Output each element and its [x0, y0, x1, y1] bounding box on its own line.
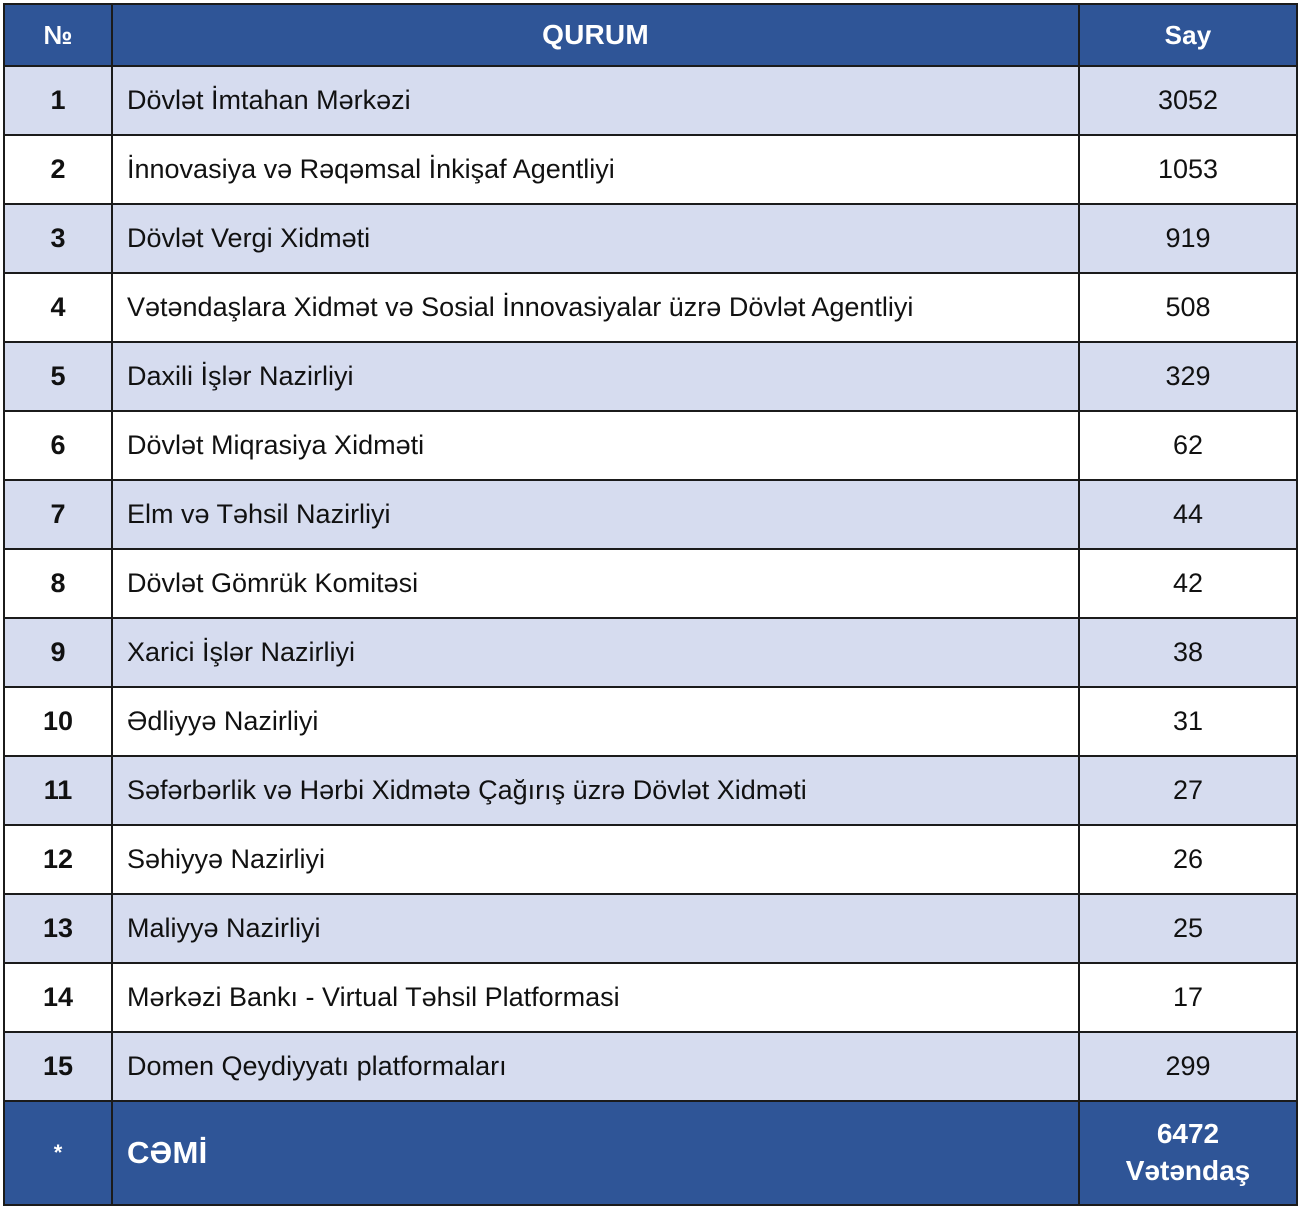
- total-row: * CƏMİ 6472 Vətəndaş: [4, 1101, 1297, 1205]
- row-number-cell: 14: [4, 963, 112, 1032]
- row-number-cell: 10: [4, 687, 112, 756]
- count-cell: 31: [1079, 687, 1297, 756]
- row-number-cell: 9: [4, 618, 112, 687]
- table-row: 9Xarici İşlər Nazirliyi38: [4, 618, 1297, 687]
- count-cell: 26: [1079, 825, 1297, 894]
- count-cell: 38: [1079, 618, 1297, 687]
- total-count-number: 6472: [1081, 1116, 1295, 1153]
- count-cell: 42: [1079, 549, 1297, 618]
- organization-name-cell: Səfərbərlik və Hərbi Xidmətə Çağırış üzr…: [112, 756, 1079, 825]
- row-number-cell: 7: [4, 480, 112, 549]
- organization-name-cell: Vətəndaşlara Xidmət və Sosial İnnovasiya…: [112, 273, 1079, 342]
- spreadsheet-sheet: № QURUM Say 1Dövlət İmtahan Mərkəzi30522…: [0, 0, 1300, 1143]
- row-number-cell: 13: [4, 894, 112, 963]
- count-cell: 17: [1079, 963, 1297, 1032]
- organization-name-cell: Daxili İşlər Nazirliyi: [112, 342, 1079, 411]
- total-label-cell: CƏMİ: [112, 1101, 1079, 1205]
- count-cell: 1053: [1079, 135, 1297, 204]
- organization-name-cell: Elm və Təhsil Nazirliyi: [112, 480, 1079, 549]
- organization-name-cell: Xarici İşlər Nazirliyi: [112, 618, 1079, 687]
- row-number-cell: 2: [4, 135, 112, 204]
- count-cell: 62: [1079, 411, 1297, 480]
- table-row: 13Maliyyə Nazirliyi25: [4, 894, 1297, 963]
- organization-name-cell: Maliyyə Nazirliyi: [112, 894, 1079, 963]
- row-number-cell: 6: [4, 411, 112, 480]
- table-row: 2İnnovasiya və Rəqəmsal İnkişaf Agentliy…: [4, 135, 1297, 204]
- total-count-cell: 6472 Vətəndaş: [1079, 1101, 1297, 1205]
- column-header-number[interactable]: №: [4, 4, 112, 66]
- table-row: 15Domen Qeydiyyatı platformaları299: [4, 1032, 1297, 1101]
- row-number-cell: 1: [4, 66, 112, 135]
- organization-name-cell: Dövlət Gömrük Komitəsi: [112, 549, 1079, 618]
- column-header-qurum[interactable]: QURUM: [112, 4, 1079, 66]
- table-row: 4Vətəndaşlara Xidmət və Sosial İnnovasiy…: [4, 273, 1297, 342]
- organization-name-cell: İnnovasiya və Rəqəmsal İnkişaf Agentliyi: [112, 135, 1079, 204]
- count-cell: 25: [1079, 894, 1297, 963]
- table-row: 3Dövlət Vergi Xidməti919: [4, 204, 1297, 273]
- organization-name-cell: Domen Qeydiyyatı platformaları: [112, 1032, 1079, 1101]
- header-row: № QURUM Say: [4, 4, 1297, 66]
- table-row: 11Səfərbərlik və Hərbi Xidmətə Çağırış ü…: [4, 756, 1297, 825]
- row-number-cell: 3: [4, 204, 112, 273]
- table-header: № QURUM Say: [4, 4, 1297, 66]
- column-header-say[interactable]: Say: [1079, 4, 1297, 66]
- organization-name-cell: Dövlət İmtahan Mərkəzi: [112, 66, 1079, 135]
- table-row: 1Dövlət İmtahan Mərkəzi3052: [4, 66, 1297, 135]
- table-row: 14Mərkəzi Bankı - Virtual Təhsil Platfor…: [4, 963, 1297, 1032]
- table-row: 8Dövlət Gömrük Komitəsi42: [4, 549, 1297, 618]
- count-cell: 27: [1079, 756, 1297, 825]
- count-cell: 508: [1079, 273, 1297, 342]
- organization-name-cell: Mərkəzi Bankı - Virtual Təhsil Platforma…: [112, 963, 1079, 1032]
- total-star-cell: *: [4, 1101, 112, 1205]
- table-row: 7Elm və Təhsil Nazirliyi44: [4, 480, 1297, 549]
- table-footer: * CƏMİ 6472 Vətəndaş: [4, 1101, 1297, 1205]
- count-cell: 3052: [1079, 66, 1297, 135]
- row-number-cell: 5: [4, 342, 112, 411]
- total-count-unit: Vətəndaş: [1081, 1153, 1295, 1190]
- qurum-say-table: № QURUM Say 1Dövlət İmtahan Mərkəzi30522…: [3, 3, 1298, 1206]
- organization-name-cell: Dövlət Miqrasiya Xidməti: [112, 411, 1079, 480]
- row-number-cell: 11: [4, 756, 112, 825]
- organization-name-cell: Dövlət Vergi Xidməti: [112, 204, 1079, 273]
- count-cell: 919: [1079, 204, 1297, 273]
- count-cell: 299: [1079, 1032, 1297, 1101]
- organization-name-cell: Səhiyyə Nazirliyi: [112, 825, 1079, 894]
- table-body: 1Dövlət İmtahan Mərkəzi30522İnnovasiya v…: [4, 66, 1297, 1101]
- table-row: 6Dövlət Miqrasiya Xidməti62: [4, 411, 1297, 480]
- row-number-cell: 15: [4, 1032, 112, 1101]
- count-cell: 329: [1079, 342, 1297, 411]
- row-number-cell: 8: [4, 549, 112, 618]
- count-cell: 44: [1079, 480, 1297, 549]
- table-row: 12Səhiyyə Nazirliyi26: [4, 825, 1297, 894]
- row-number-cell: 12: [4, 825, 112, 894]
- table-row: 5Daxili İşlər Nazirliyi329: [4, 342, 1297, 411]
- table-row: 10Ədliyyə Nazirliyi31: [4, 687, 1297, 756]
- organization-name-cell: Ədliyyə Nazirliyi: [112, 687, 1079, 756]
- row-number-cell: 4: [4, 273, 112, 342]
